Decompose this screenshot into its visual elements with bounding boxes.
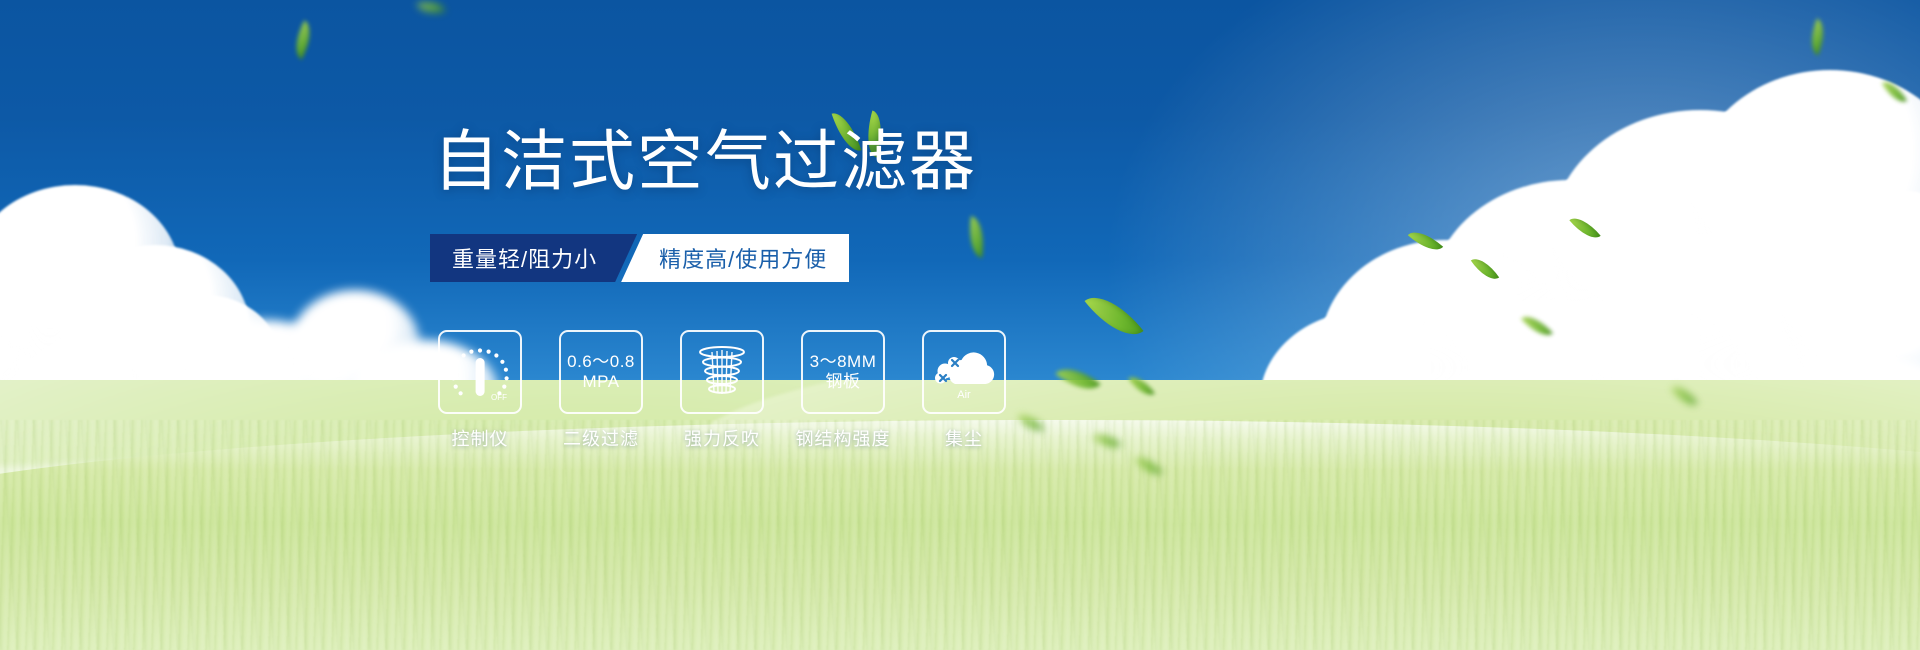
feature-powerful-backblow[interactable]: 强力反吹 (680, 330, 764, 451)
steel-plate-text-icon: 3～8MM 钢板 (801, 330, 885, 414)
feature-label: 钢结构强度 (796, 425, 891, 451)
pressure-text-icon: 0.6～0.8 MPA (559, 330, 643, 414)
page-title: 自洁式空气过滤器 (433, 128, 977, 194)
tab-high-precision-easy-use[interactable]: 精度高/使用方便 (621, 234, 849, 282)
hero-banner: 自洁式空气过滤器 重量轻/阻力小 精度高/使用方便 (0, 0, 1920, 650)
feature-label: 集尘 (945, 425, 983, 451)
feature-icon-row: NO OFF 控制仪 0.6～0.8 MPA 二级过滤 (438, 330, 1006, 451)
feature-tabs: 重量轻/阻力小 精度高/使用方便 (430, 234, 849, 282)
feature-dust-collection[interactable]: Air 集尘 (922, 330, 1006, 451)
pressure-value: 0.6～0.8 MPA (567, 352, 635, 392)
dial-off-label: OFF (491, 393, 507, 402)
steel-plate-value: 3～8MM 钢板 (810, 352, 877, 392)
feature-steel-structure-strength[interactable]: 3～8MM 钢板 钢结构强度 (801, 330, 885, 451)
feature-label: 强力反吹 (684, 425, 760, 451)
air-cloud-icon: Air (922, 330, 1006, 414)
banner-content: 自洁式空气过滤器 重量轻/阻力小 精度高/使用方便 (0, 0, 1920, 650)
feature-label: 控制仪 (452, 425, 509, 451)
air-label: Air (957, 389, 971, 401)
feature-label: 二级过滤 (563, 425, 639, 451)
filter-cartridge-icon (680, 330, 764, 414)
dial-on-label: NO (449, 371, 461, 380)
control-dial-icon: NO OFF (438, 330, 522, 414)
feature-control-instrument[interactable]: NO OFF 控制仪 (438, 330, 522, 451)
tab-lightweight-low-resistance[interactable]: 重量轻/阻力小 (430, 234, 637, 282)
feature-two-stage-filtration[interactable]: 0.6～0.8 MPA 二级过滤 (559, 330, 643, 451)
